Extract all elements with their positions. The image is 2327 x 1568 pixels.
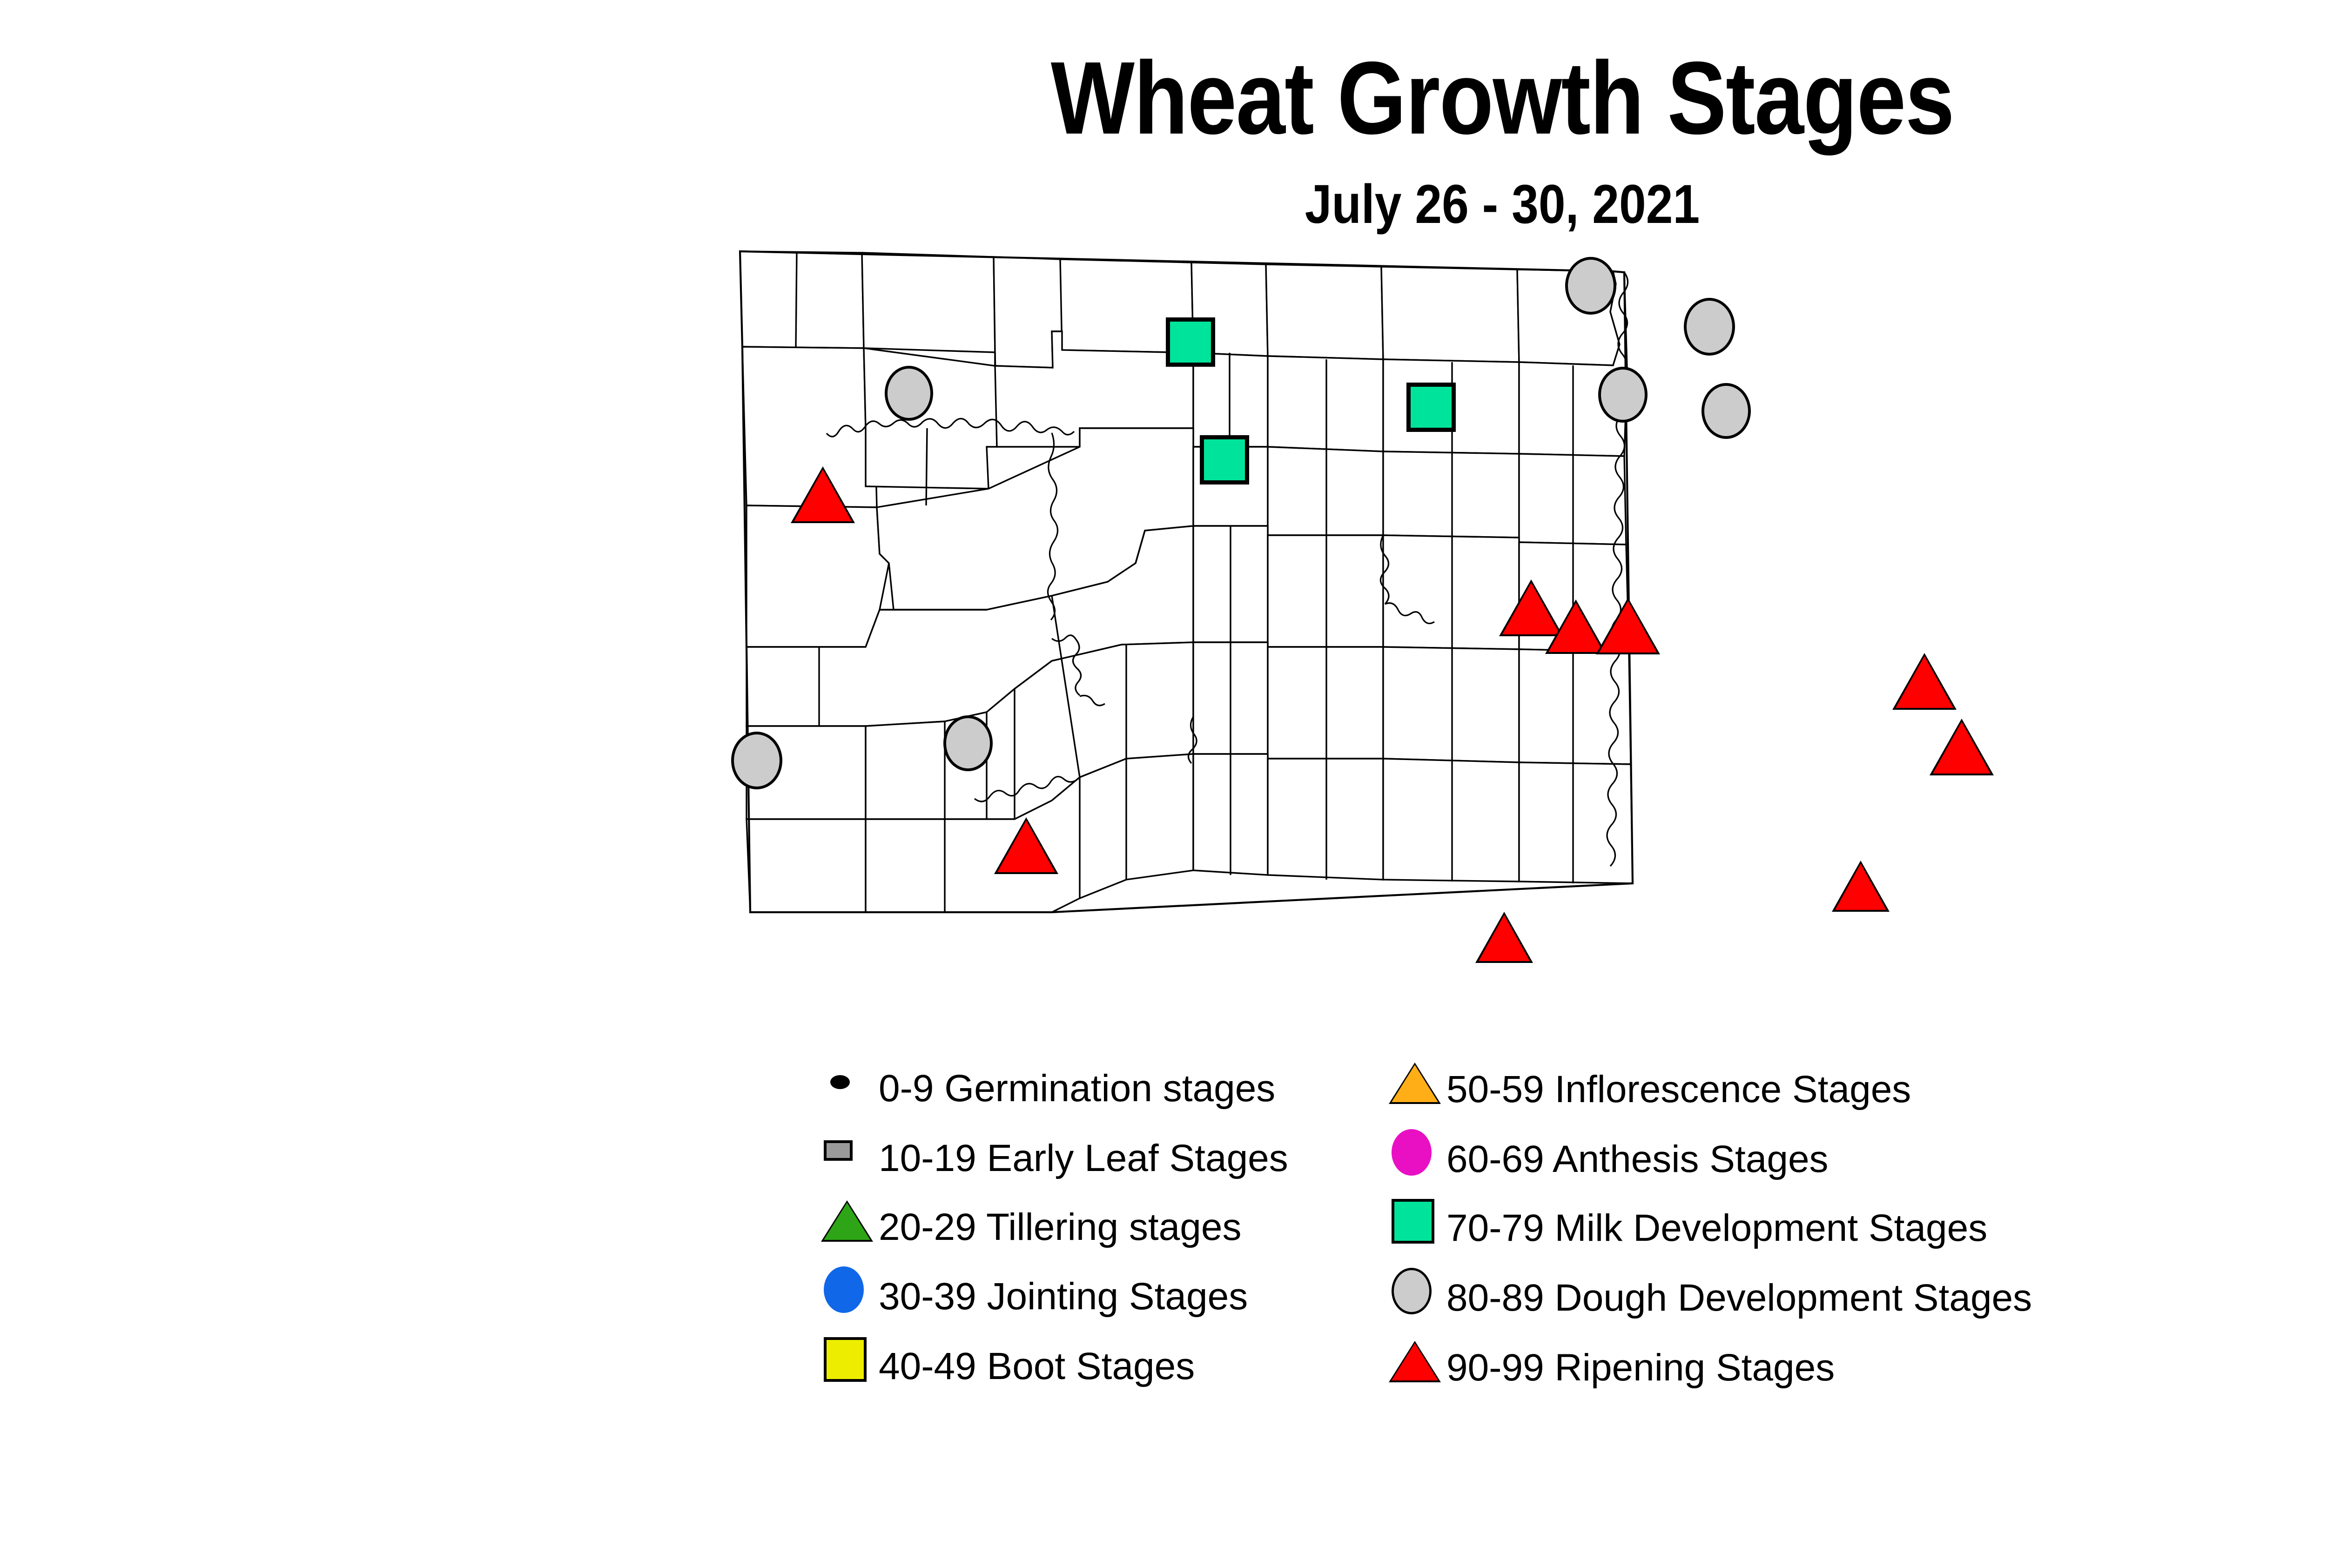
legend-item-label: 60-69 Anthesis Stages [1446, 1140, 1829, 1178]
map-marker-circle-dough [1598, 367, 1648, 423]
circle-marker-blue [824, 1265, 864, 1313]
map-marker-triangle-ripening [1933, 722, 1991, 774]
square-marker-teal [1392, 1196, 1434, 1244]
circle-marker-blue-glyph [824, 1266, 864, 1313]
map-marker-circle-dough [885, 366, 933, 421]
legend-item-label: 80-89 Dough Development Stages [1446, 1279, 2032, 1317]
square-marker-yellow-glyph [824, 1337, 867, 1382]
legend-item-label: 40-49 Boot Stages [879, 1347, 1195, 1386]
square-marker-gray-glyph [824, 1140, 853, 1161]
map-marker-circle-dough [731, 732, 782, 789]
triangle-marker-orange [1392, 1057, 1438, 1102]
legend-item-label: 0-9 Germination stages [879, 1070, 1275, 1108]
circle-marker-lightgray-glyph [1392, 1268, 1432, 1314]
map-marker-square-milk [1406, 383, 1456, 432]
map-marker-circle-dough [1565, 257, 1616, 315]
square-marker-teal-glyph [1392, 1199, 1434, 1244]
legend-item-label: 90-99 Ripening Stages [1446, 1349, 1835, 1387]
triangle-marker-orange-glyph [1392, 1065, 1438, 1102]
north-dakota-county-map [726, 228, 2076, 1019]
legend-item-label: 70-79 Milk Development Stages [1446, 1209, 1987, 1247]
triangle-marker-green-glyph [824, 1203, 870, 1240]
page-title: Wheat Growth Stages [210, 47, 2327, 150]
wheat-growth-stages-map-figure: Wheat Growth Stages July 26 - 30, 2021 [0, 0, 2327, 1568]
map-marker-square-milk [1166, 317, 1215, 367]
legend-item-label: 10-19 Early Leaf Stages [879, 1139, 1288, 1178]
legend-item-label: 20-29 Tillering stages [879, 1208, 1241, 1246]
map-marker-triangle-ripening [1896, 656, 1953, 708]
map-marker-circle-dough [1684, 298, 1735, 356]
circle-marker-magenta [1392, 1127, 1432, 1176]
map-marker-circle-dough [943, 715, 993, 771]
map-marker-square-milk [1200, 435, 1249, 485]
triangle-marker-red [1392, 1336, 1438, 1380]
legend-item-label: 50-59 Inflorescence Stages [1446, 1070, 1911, 1109]
circle-marker-black [824, 1057, 850, 1089]
triangle-marker-red-glyph [1392, 1343, 1438, 1380]
map-marker-triangle-ripening [997, 821, 1055, 872]
map-marker-triangle-ripening [1599, 601, 1657, 653]
circle-marker-black-glyph [830, 1075, 850, 1089]
legend: 0-9 Germination stages10-19 Early Leaf S… [726, 1038, 2327, 1531]
square-marker-yellow [824, 1334, 867, 1382]
map-marker-circle-dough [1702, 383, 1751, 439]
map-marker-triangle-ripening [1479, 915, 1530, 961]
circle-marker-lightgray [1392, 1266, 1432, 1314]
circle-marker-magenta-glyph [1392, 1129, 1432, 1176]
page-subtitle: July 26 - 30, 2021 [180, 177, 2327, 232]
triangle-marker-green [824, 1195, 870, 1240]
map-marker-triangle-ripening [1835, 864, 1886, 910]
legend-item-label: 30-39 Jointing Stages [879, 1278, 1248, 1316]
map-marker-triangle-ripening [794, 470, 852, 521]
map-marker-triangle-ripening [1548, 603, 1603, 652]
square-marker-gray [824, 1126, 853, 1161]
